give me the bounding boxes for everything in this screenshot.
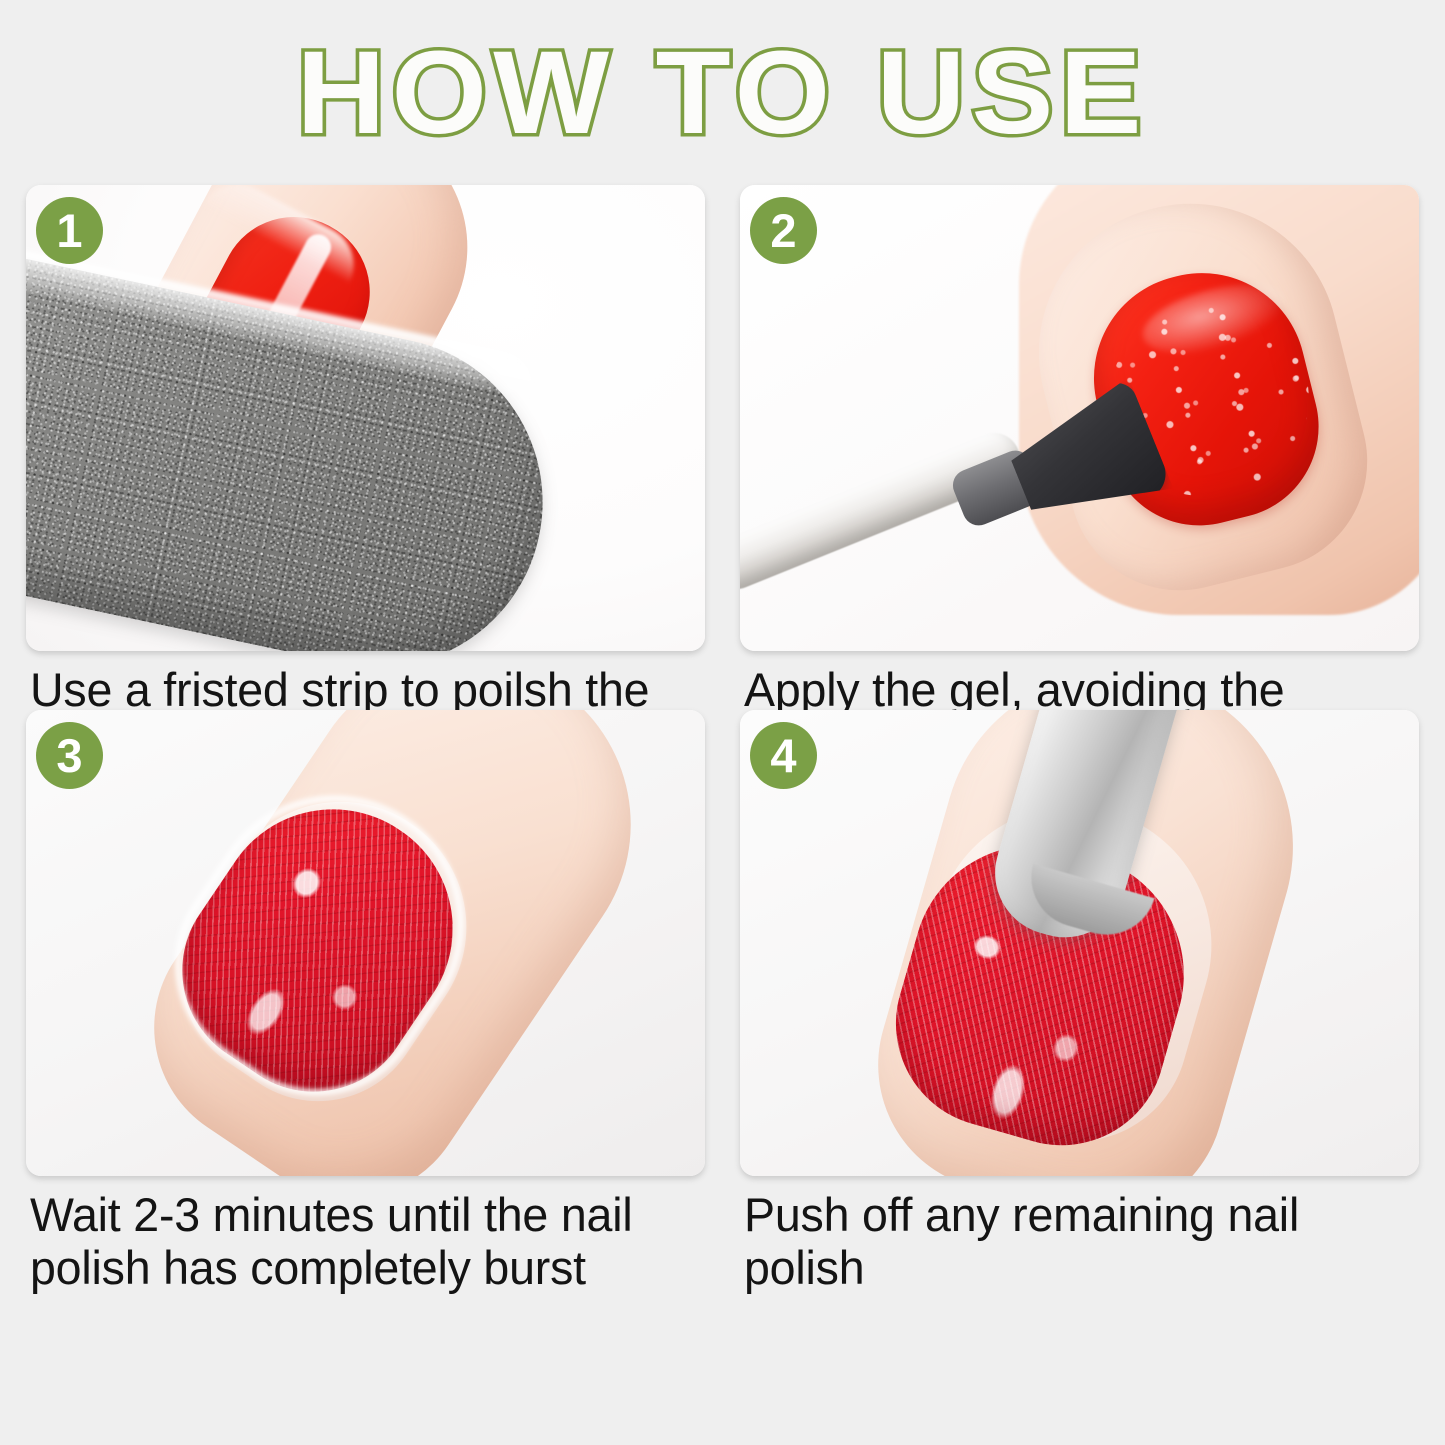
step-photo-2: 2 [740, 185, 1419, 651]
steps-grid: 1 Use a fristed strip to poilsh the nail… [26, 185, 1419, 1425]
step-caption-3: Wait 2-3 minutes until the nail polish h… [30, 1188, 713, 1294]
page-title-container: HOW TO USE [0, 30, 1445, 155]
step-card-2: 2 Apply the gel, avoiding the surroundin… [740, 185, 1419, 690]
step-photo-3: 3 [26, 710, 705, 1176]
step-card-1: 1 Use a fristed strip to poilsh the nail… [26, 185, 705, 690]
step-card-3: 3 Wait 2-3 minutes until the nail polish… [26, 710, 705, 1215]
step-badge-1: 1 [36, 197, 103, 264]
photo-scene-gel-brush [740, 185, 1419, 651]
step-photo-1: 1 [26, 185, 705, 651]
photo-scene-push-off [740, 710, 1419, 1176]
photo-scene-emery-strip [26, 185, 705, 651]
page-title: HOW TO USE [297, 34, 1148, 152]
how-to-use-infographic: HOW TO USE 1 Use a fristed strip to poil… [0, 0, 1445, 1445]
step-badge-4: 4 [750, 722, 817, 789]
step-photo-4: 4 [740, 710, 1419, 1176]
step-card-4: 4 Push off any remaining nail polish [740, 710, 1419, 1215]
photo-scene-burst-polish [26, 710, 705, 1176]
step-badge-2: 2 [750, 197, 817, 264]
step-caption-4: Push off any remaining nail polish [744, 1188, 1427, 1294]
step-badge-3: 3 [36, 722, 103, 789]
